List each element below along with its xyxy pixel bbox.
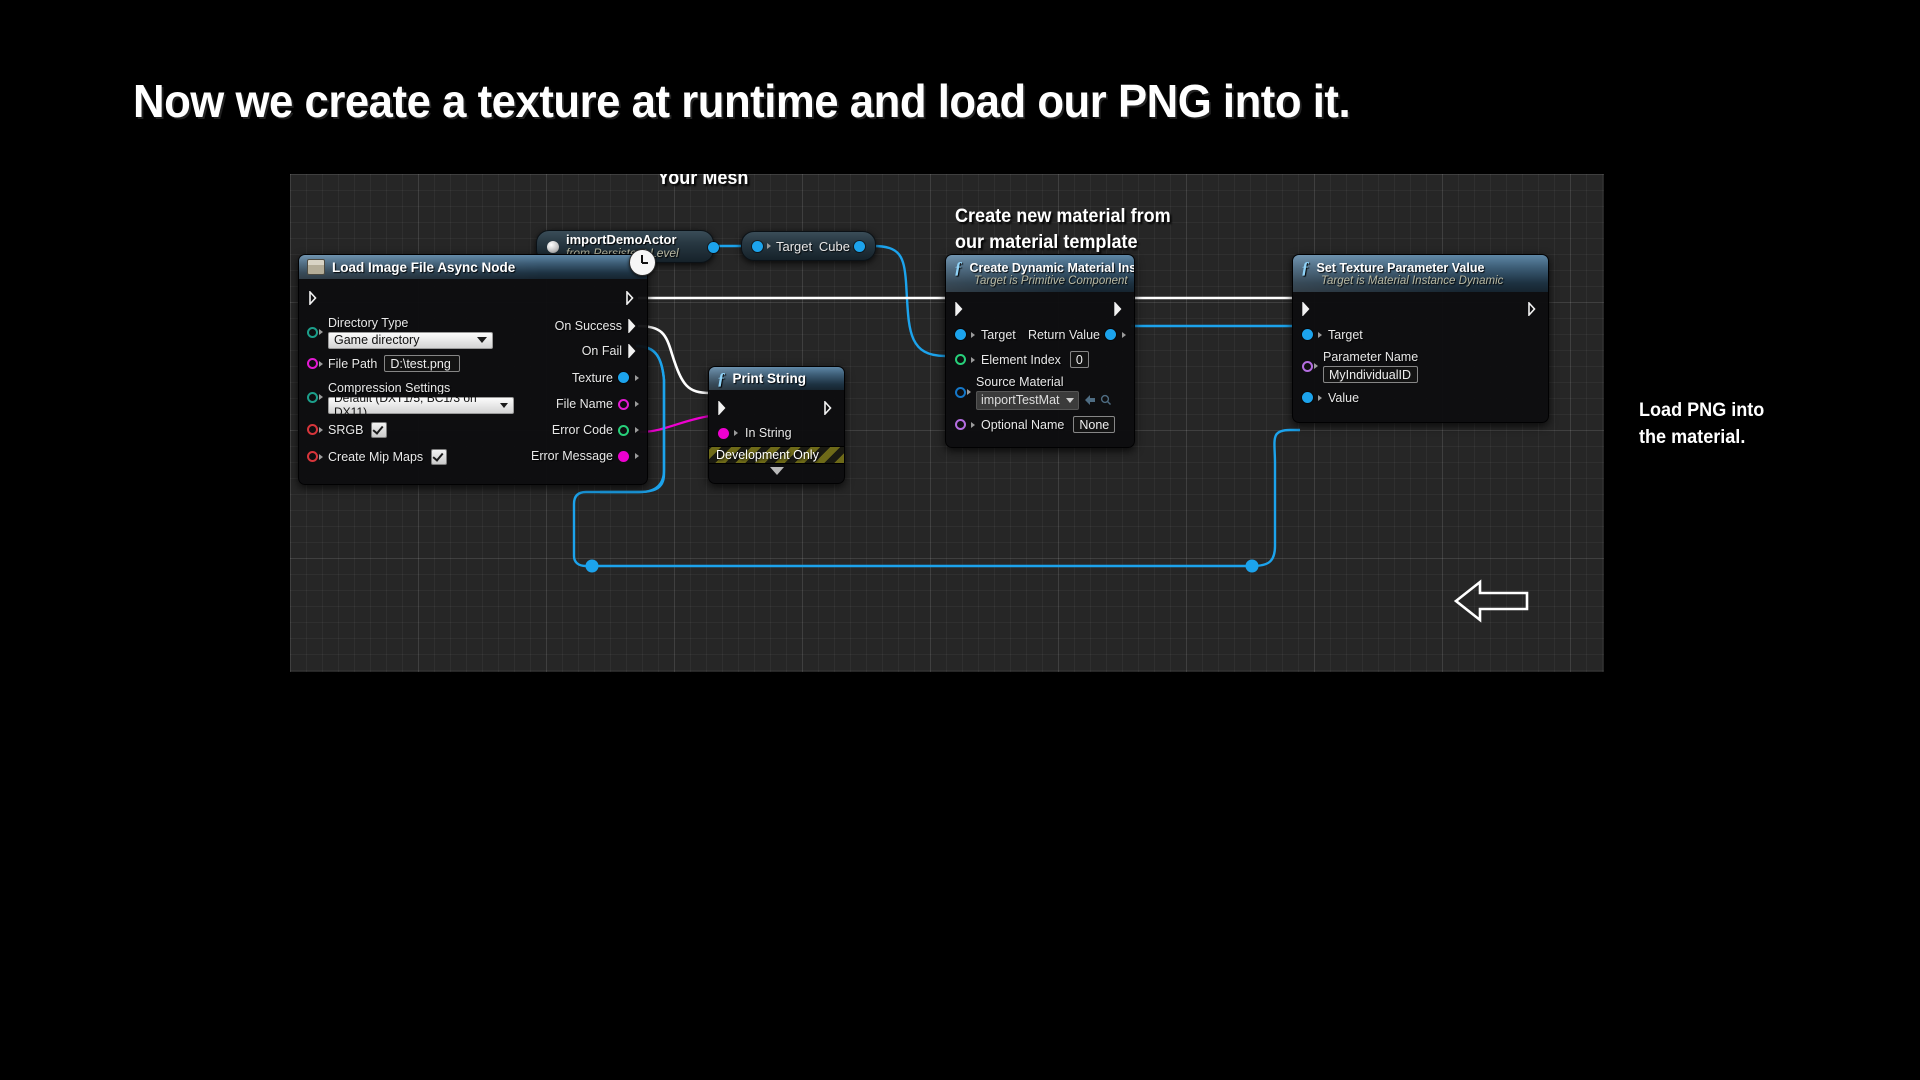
in-string-pin-arrow bbox=[734, 430, 738, 436]
set-texture-value-row[interactable]: Value bbox=[1293, 385, 1548, 410]
source-material-value: importTestMat bbox=[981, 393, 1060, 407]
print-string-header: ƒ Print String bbox=[709, 367, 844, 390]
error-message-pin[interactable] bbox=[618, 451, 629, 462]
annotation-create-material: Create new material from our material te… bbox=[955, 204, 1171, 255]
set-texture-value-label: Value bbox=[1328, 391, 1359, 405]
file-path-pin[interactable] bbox=[307, 358, 318, 369]
set-texture-value-pin[interactable] bbox=[1302, 392, 1313, 403]
actor-output-pin[interactable] bbox=[708, 242, 719, 253]
optional-name-input[interactable]: None bbox=[1073, 416, 1115, 433]
source-material-picker[interactable]: importTestMat bbox=[976, 391, 1079, 410]
directory-type-label: Directory Type bbox=[328, 316, 493, 330]
function-icon: ƒ bbox=[1301, 259, 1310, 276]
input-row-srgb[interactable]: SRGB bbox=[307, 416, 525, 443]
create-dmi-target-label: Target bbox=[981, 328, 1016, 342]
set-texture-param-header: ƒ Set Texture Parameter Value Target is … bbox=[1293, 255, 1548, 292]
set-texture-parameter-name-row[interactable]: Parameter Name MyIndividualID bbox=[1293, 347, 1548, 385]
element-index-pin[interactable] bbox=[955, 354, 966, 365]
source-material-pin-arrow bbox=[967, 389, 971, 395]
file-name-pin-arrow bbox=[635, 401, 639, 407]
parameter-name-label: Parameter Name bbox=[1323, 350, 1418, 364]
compression-settings-dropdown[interactable]: Default (DXT1/5, BC1/3 on DX11) bbox=[328, 397, 514, 414]
set-texture-exec-in-pin[interactable] bbox=[1302, 302, 1313, 316]
compression-settings-pin-arrow bbox=[319, 394, 323, 400]
on-success-pin[interactable] bbox=[628, 319, 639, 333]
error-code-pin[interactable] bbox=[618, 425, 629, 436]
development-only-banner: Development Only bbox=[709, 446, 844, 464]
node-load-image-file-async[interactable]: Load Image File Async Node bbox=[298, 254, 648, 485]
async-task-icon bbox=[307, 259, 325, 275]
node-set-texture-parameter-value[interactable]: ƒ Set Texture Parameter Value Target is … bbox=[1292, 254, 1549, 423]
output-row-on-fail[interactable]: On Fail bbox=[525, 337, 639, 364]
output-row-on-success[interactable]: On Success bbox=[525, 314, 639, 337]
set-texture-target-pin[interactable] bbox=[1302, 329, 1313, 340]
error-code-label: Error Code bbox=[552, 423, 613, 437]
texture-pin[interactable] bbox=[618, 372, 629, 383]
create-dmi-element-index-row[interactable]: Element Index 0 bbox=[946, 347, 1134, 372]
create-mip-maps-pin[interactable] bbox=[307, 451, 318, 462]
exec-output-pin-unconnected[interactable] bbox=[626, 291, 637, 305]
input-row-directory-type[interactable]: Directory Type Game directory bbox=[307, 313, 525, 351]
element-index-input[interactable]: 0 bbox=[1070, 351, 1089, 368]
source-material-label: Source Material bbox=[976, 375, 1112, 389]
mesh-target-pin[interactable] bbox=[752, 241, 763, 252]
create-dmi-source-material-row[interactable]: Source Material importTestMat bbox=[946, 372, 1134, 412]
mesh-target-label: Target bbox=[776, 239, 812, 254]
create-dmi-return-value-pin[interactable] bbox=[1105, 329, 1116, 340]
expand-node-caret-icon[interactable] bbox=[770, 467, 784, 475]
directory-type-pin[interactable] bbox=[307, 327, 318, 338]
in-string-pin[interactable] bbox=[718, 428, 729, 439]
srgb-label: SRGB bbox=[328, 423, 363, 437]
create-dmi-target-row[interactable]: Target Return Value bbox=[946, 322, 1134, 347]
set-texture-exec-out-pin[interactable] bbox=[1528, 302, 1539, 316]
output-row-texture[interactable]: Texture bbox=[525, 364, 639, 391]
input-row-file-path[interactable]: File Path D:\test.png bbox=[307, 351, 525, 376]
in-string-label: In String bbox=[745, 426, 792, 440]
error-message-pin-arrow bbox=[635, 453, 639, 459]
set-texture-target-pin-arrow bbox=[1318, 332, 1322, 338]
set-texture-target-row[interactable]: Target bbox=[1293, 322, 1548, 347]
optional-name-pin-arrow bbox=[971, 422, 975, 428]
chevron-down-icon bbox=[477, 337, 487, 343]
compression-settings-pin[interactable] bbox=[307, 392, 318, 403]
file-path-pin-arrow bbox=[319, 361, 323, 367]
on-success-label: On Success bbox=[555, 319, 622, 333]
create-dmi-target-pin[interactable] bbox=[955, 329, 966, 340]
input-row-create-mip-maps[interactable]: Create Mip Maps bbox=[307, 443, 525, 470]
create-dmi-target-pin-arrow bbox=[971, 332, 975, 338]
texture-pin-arrow bbox=[635, 375, 639, 381]
create-dmi-exec-out-pin[interactable] bbox=[1114, 302, 1125, 316]
parameter-name-pin-arrow bbox=[1314, 363, 1318, 369]
create-dmi-exec-in-pin[interactable] bbox=[955, 302, 966, 316]
on-fail-pin[interactable] bbox=[628, 344, 639, 358]
directory-type-value: Game directory bbox=[334, 333, 419, 347]
exec-input-pin[interactable] bbox=[309, 291, 320, 305]
file-path-input[interactable]: D:\test.png bbox=[384, 355, 460, 372]
load-image-header: Load Image File Async Node bbox=[299, 255, 647, 279]
function-icon: ƒ bbox=[954, 259, 963, 276]
directory-type-pin-arrow bbox=[319, 329, 323, 335]
print-string-exec-out-pin[interactable] bbox=[824, 401, 835, 415]
create-dmi-title: Create Dynamic Material Instance bbox=[970, 261, 1135, 275]
mesh-target-pin-arrow bbox=[767, 243, 771, 249]
annotation-your-mesh: Your Mesh bbox=[608, 174, 798, 192]
set-texture-target-label: Target bbox=[1328, 328, 1363, 342]
parameter-name-pin[interactable] bbox=[1302, 361, 1313, 372]
srgb-pin[interactable] bbox=[307, 424, 318, 435]
create-mip-maps-label: Create Mip Maps bbox=[328, 450, 423, 464]
element-index-pin-arrow bbox=[971, 357, 975, 363]
mesh-output-pin[interactable] bbox=[854, 241, 865, 252]
use-selected-asset-icon[interactable] bbox=[1083, 394, 1096, 406]
blueprint-canvas[interactable]: Your Mesh Create new material from our m… bbox=[290, 174, 1604, 672]
source-material-pin[interactable] bbox=[955, 387, 966, 398]
input-row-in-string[interactable]: In String bbox=[709, 420, 844, 446]
create-dmi-subtitle: Target is Primitive Component bbox=[974, 275, 1125, 287]
error-message-label: Error Message bbox=[531, 449, 613, 463]
create-dmi-return-value-label: Return Value bbox=[1028, 328, 1100, 342]
output-row-file-name[interactable]: File Name bbox=[525, 391, 639, 417]
actor-dot-icon bbox=[547, 241, 559, 253]
create-dmi-header: ƒ Create Dynamic Material Instance Targe… bbox=[946, 255, 1134, 292]
screenshot-root: Now we create a texture at runtime and l… bbox=[0, 0, 1920, 1080]
file-name-pin[interactable] bbox=[618, 399, 629, 410]
create-dmi-return-value-pin-arrow bbox=[1122, 332, 1126, 338]
texture-label: Texture bbox=[572, 371, 613, 385]
set-texture-value-pin-arrow bbox=[1318, 395, 1322, 401]
create-mip-maps-pin-arrow bbox=[319, 454, 323, 460]
node-create-dynamic-material-instance[interactable]: ƒ Create Dynamic Material Instance Targe… bbox=[945, 254, 1135, 448]
file-name-label: File Name bbox=[556, 397, 613, 411]
optional-name-label: Optional Name bbox=[981, 418, 1064, 432]
create-mip-maps-checkbox[interactable] bbox=[431, 449, 447, 465]
output-row-error-code[interactable]: Error Code bbox=[525, 417, 639, 443]
actor-reference-name: importDemoActor bbox=[566, 233, 679, 247]
load-image-title: Load Image File Async Node bbox=[332, 260, 515, 275]
page-title: Now we create a texture at runtime and l… bbox=[133, 74, 1350, 128]
browse-to-asset-icon[interactable] bbox=[1100, 394, 1112, 406]
set-texture-param-title: Set Texture Parameter Value bbox=[1317, 261, 1485, 275]
parameter-name-input[interactable]: MyIndividualID bbox=[1323, 366, 1418, 383]
srgb-pin-arrow bbox=[319, 427, 323, 433]
set-texture-param-subtitle: Target is Material Instance Dynamic bbox=[1321, 275, 1539, 287]
print-string-exec-in-pin[interactable] bbox=[718, 401, 729, 415]
node-print-string[interactable]: ƒ Print String In String bbox=[708, 366, 845, 484]
mesh-output-label: Cube bbox=[819, 239, 850, 254]
output-row-error-message[interactable]: Error Message bbox=[525, 443, 639, 469]
create-dmi-optional-name-row[interactable]: Optional Name None bbox=[946, 412, 1134, 437]
input-row-compression-settings[interactable]: Compression Settings Default (DXT1/5, BC… bbox=[307, 378, 525, 416]
chevron-down-icon bbox=[500, 403, 508, 408]
node-mesh-component[interactable]: Target Cube bbox=[741, 231, 876, 261]
pointer-arrow-icon bbox=[1454, 578, 1529, 624]
print-string-title: Print String bbox=[733, 371, 807, 386]
optional-name-pin[interactable] bbox=[955, 419, 966, 430]
on-fail-label: On Fail bbox=[582, 344, 622, 358]
srgb-checkbox[interactable] bbox=[371, 422, 387, 438]
compression-settings-value: Default (DXT1/5, BC1/3 on DX11) bbox=[334, 391, 493, 419]
directory-type-dropdown[interactable]: Game directory bbox=[328, 332, 493, 349]
element-index-label: Element Index bbox=[981, 353, 1061, 367]
error-code-pin-arrow bbox=[635, 427, 639, 433]
file-path-label: File Path bbox=[328, 357, 377, 371]
chevron-down-icon bbox=[1066, 398, 1074, 403]
function-icon: ƒ bbox=[717, 370, 726, 387]
annotation-load-png: Load PNG into the material. bbox=[1639, 398, 1764, 451]
